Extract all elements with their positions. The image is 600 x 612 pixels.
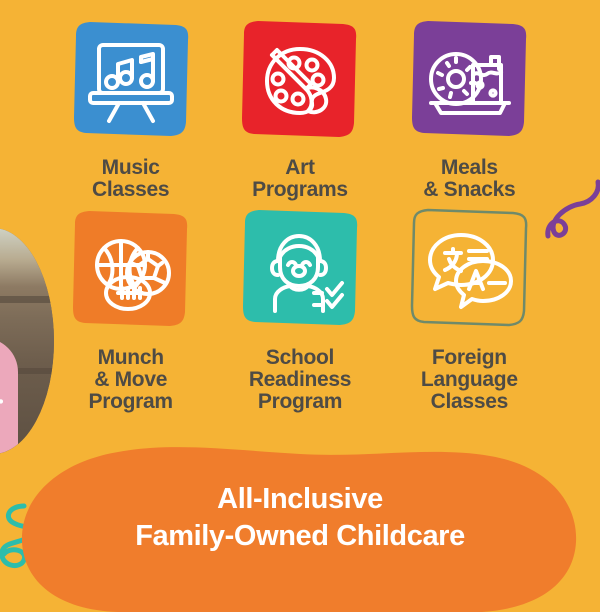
tile-artwork <box>233 208 367 338</box>
tile-artwork <box>402 14 536 148</box>
service-tile-meals-snacks[interactable]: Meals & Snacks <box>385 14 554 202</box>
tile-label: Munch & Move Program <box>89 347 173 414</box>
child-checklist-icon <box>254 227 346 319</box>
tile-label: Music Classes <box>92 157 169 202</box>
tile-label: Meals & Snacks <box>423 157 515 202</box>
service-tile-munch-move[interactable]: Munch & Move Program <box>46 208 215 414</box>
service-tile-art-programs[interactable]: Art Programs <box>215 14 384 202</box>
services-grid: Music Classes Art Programs <box>46 14 554 413</box>
sports-balls-icon <box>85 227 177 319</box>
tile-artwork <box>233 14 367 148</box>
tagline-banner: All-Inclusive Family-Owned Childcare <box>22 446 578 612</box>
speech-bubbles-translate-icon <box>423 227 515 319</box>
tile-label: Art Programs <box>252 157 348 202</box>
tile-artwork <box>402 208 536 338</box>
donut-drink-tray-icon <box>423 35 515 127</box>
service-tile-school-readiness[interactable]: School Readiness Program <box>215 208 384 414</box>
service-tile-foreign-language[interactable]: Foreign Language Classes <box>385 208 554 414</box>
banner-text-block: All-Inclusive Family-Owned Childcare <box>22 446 578 612</box>
music-easel-icon <box>85 35 177 127</box>
service-tile-music-classes[interactable]: Music Classes <box>46 14 215 202</box>
banner-line-1: All-Inclusive <box>217 482 383 517</box>
tile-label: School Readiness Program <box>249 347 351 414</box>
paint-palette-brush-icon <box>254 35 346 127</box>
tile-label: Foreign Language Classes <box>421 347 518 414</box>
tile-artwork <box>64 14 198 148</box>
tile-artwork <box>64 208 198 338</box>
banner-line-2: Family-Owned Childcare <box>135 519 465 554</box>
